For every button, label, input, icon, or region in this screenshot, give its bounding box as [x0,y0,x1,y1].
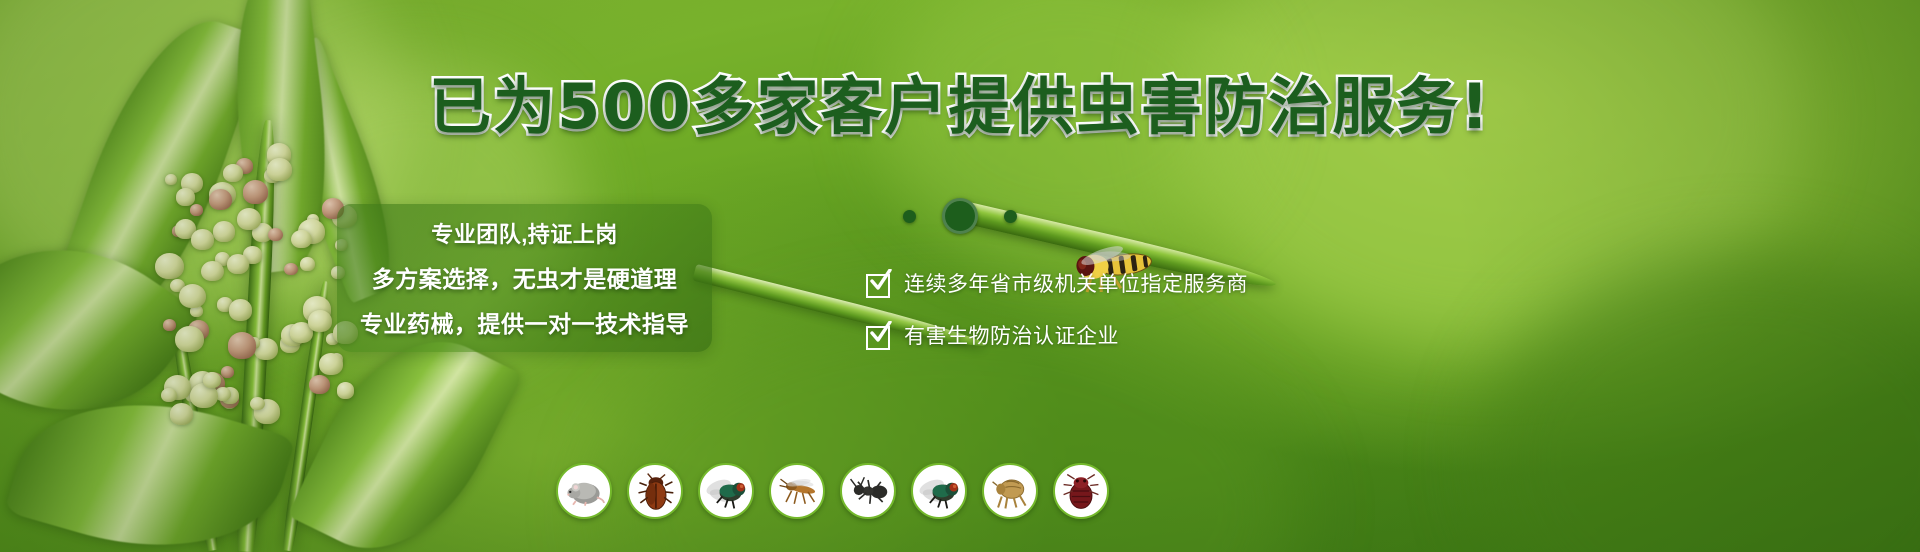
headline-text: 已为500多家客户提供虫害防治服务! [429,70,1491,143]
credential-text-1: 连续多年省市级机关单位指定服务商 [904,268,1248,298]
ant-icon [846,469,890,513]
slogan-panel-text: 专业团队,持证上岗 多方案选择，无虫才是硬道理 专业药械，提供一对一技术指导 [337,204,712,352]
mosquito-icon [775,469,819,513]
pest-circle-ant[interactable] [840,463,896,519]
credentials-list: 连续多年省市级机关单位指定服务商 有害生物防治认证企业 [866,268,1248,350]
pest-circle-mosquito[interactable] [769,463,825,519]
slogan-line-1: 专业团队,持证上岗 [431,217,618,249]
fly-icon [704,469,748,513]
page-title: 已为500多家客户提供虫害防治服务! [0,76,1920,138]
list-item: 连续多年省市级机关单位指定服务商 [866,268,1248,298]
checkbox-checked-icon [866,323,891,348]
pest-circle-cockroach[interactable] [627,463,683,519]
pest-icon-row [556,463,1109,519]
flea-icon [988,469,1032,513]
pest-circle-bedbug[interactable] [1053,463,1109,519]
credential-text-2: 有害生物防治认证企业 [904,320,1119,350]
pest-circle-fly-1[interactable] [698,463,754,519]
cockroach-icon [633,469,677,513]
slogan-line-3: 专业药械，提供一对一技术指导 [360,305,689,339]
slogan-line-2: 多方案选择，无虫才是硬道理 [372,260,678,294]
list-item: 有害生物防治认证企业 [866,320,1248,350]
pest-circle-fly-2[interactable] [911,463,967,519]
dot-small-right-icon [1004,210,1017,223]
dot-small-left-icon [903,210,916,223]
fly-icon [917,469,961,513]
pest-circle-mouse[interactable] [556,463,612,519]
checkbox-checked-icon [866,271,891,296]
dot-large-center-icon [942,198,978,234]
mouse-icon [562,469,606,513]
decorative-dots [0,198,1920,234]
pest-circle-flea[interactable] [982,463,1038,519]
bedbug-icon [1059,469,1103,513]
pest-control-banner: 已为500多家客户提供虫害防治服务! 专业团队,持证上岗 多方案选择，无虫才是硬… [0,0,1920,552]
